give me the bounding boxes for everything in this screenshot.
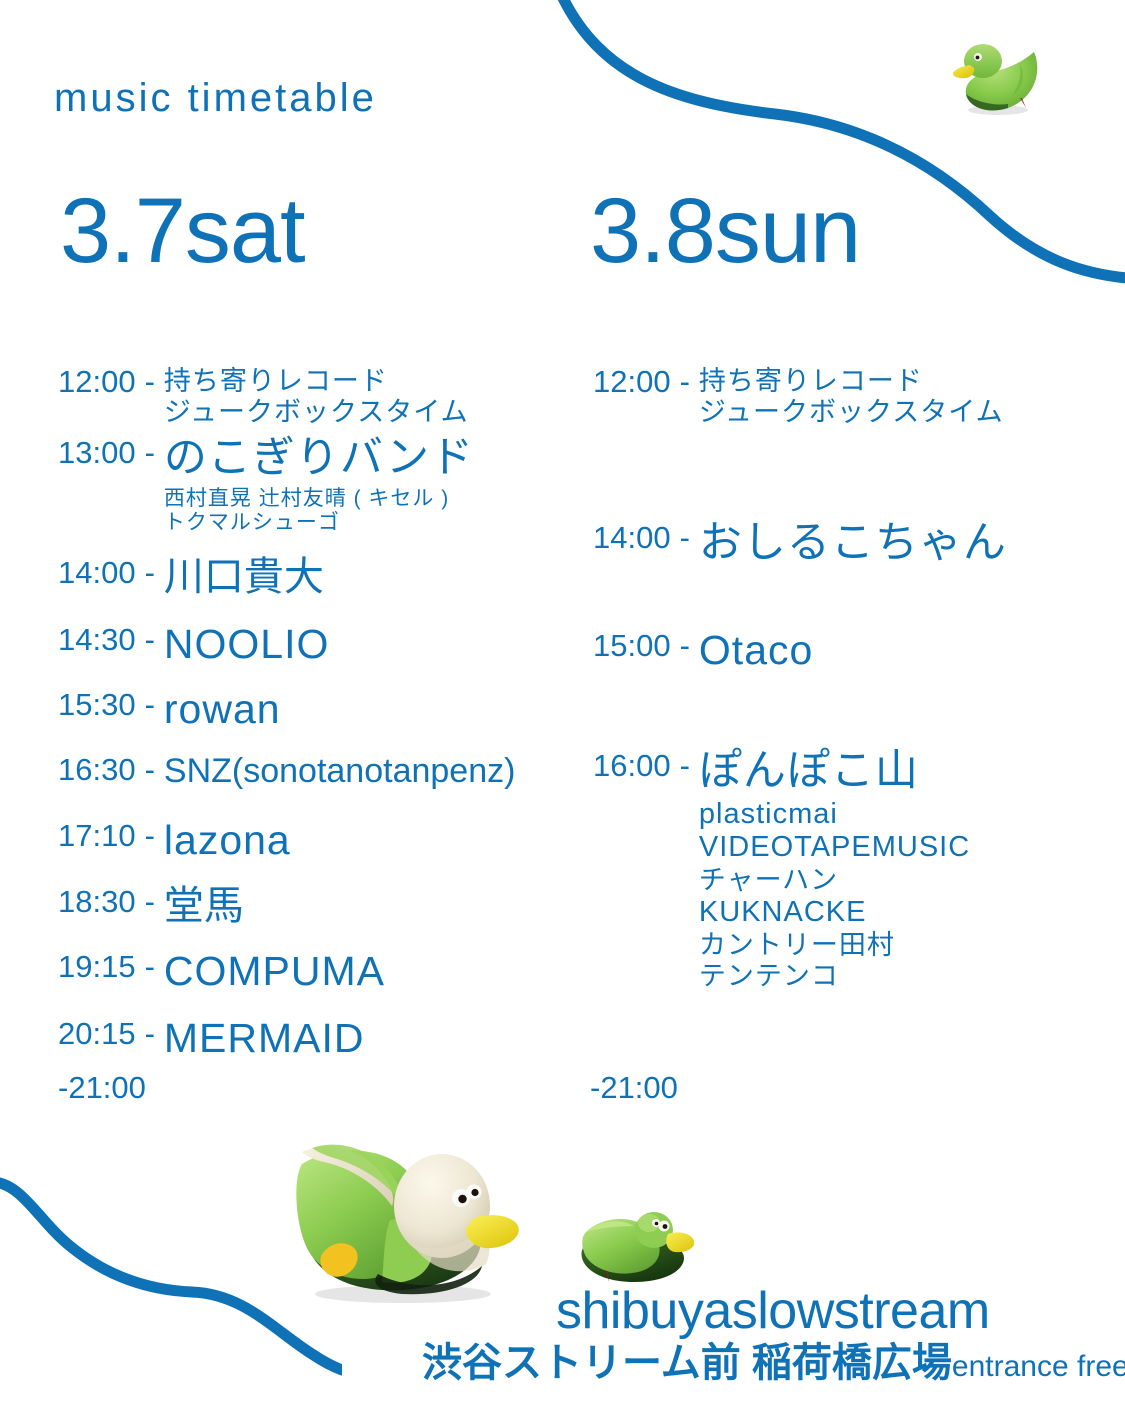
slot-dash: - xyxy=(136,886,164,917)
venue-line: 渋谷ストリーム前 稲荷橋広場 entrance free xyxy=(422,1343,1125,1383)
slot-acts: 持ち寄りレコード ジュークボックスタイム xyxy=(164,366,469,429)
act-headline: のこぎりバンド xyxy=(164,437,474,481)
act-name: 持ち寄りレコード xyxy=(164,366,469,397)
act-name: plasticmai xyxy=(699,798,970,832)
schedule-row: 14:00 - 川口貴大 xyxy=(58,557,324,598)
slot-time: 16:30 xyxy=(58,754,136,785)
slot-time: 15:00 xyxy=(593,630,671,661)
schedule-row: 17:10 - lazona xyxy=(58,820,291,862)
act-headline: NOOLIO xyxy=(164,624,329,666)
slot-dash: - xyxy=(136,366,164,397)
slot-acts: ぽんぽこ山 plasticmai VIDEOTAPEMUSIC チャーハン KU… xyxy=(699,750,970,993)
slot-acts: lazona xyxy=(164,820,291,862)
slot-time: 17:10 xyxy=(58,820,136,851)
slot-time: 14:00 xyxy=(593,522,671,553)
schedule-row: 16:00 - ぽんぽこ山 plasticmai VIDEOTAPEMUSIC … xyxy=(593,750,970,993)
slot-acts: NOOLIO xyxy=(164,624,329,666)
slot-acts: rowan xyxy=(164,689,281,731)
slot-dash: - xyxy=(136,1018,164,1049)
slot-dash: - xyxy=(136,624,164,655)
slot-acts: SNZ(sonotanotanpenz) xyxy=(164,754,516,789)
slot-time: 19:15 xyxy=(58,951,136,982)
slot-dash: - xyxy=(136,437,164,468)
act-headline: rowan xyxy=(164,689,281,731)
act-name: ジュークボックスタイム xyxy=(699,397,1004,428)
day1-schedule: 12:00 - 持ち寄りレコード ジュークボックスタイム 13:00 - のこぎ… xyxy=(0,0,540,1407)
act-headline: ぽんぽこ山 xyxy=(699,750,970,794)
slot-dash: - xyxy=(671,522,699,553)
act-name: KUKNACKE xyxy=(699,896,970,930)
schedule-row: 16:30 - SNZ(sonotanotanpenz) xyxy=(58,754,515,789)
day1-end-time: -21:00 xyxy=(58,1072,146,1103)
schedule-row: 13:00 - のこぎりバンド 西村直晃 辻村友晴 ( キセル ) トクマルシュ… xyxy=(58,437,474,536)
slot-acts: のこぎりバンド 西村直晃 辻村友晴 ( キセル ) トクマルシューゴ xyxy=(164,437,474,536)
schedule-row: 12:00 - 持ち寄りレコード ジュークボックスタイム xyxy=(593,366,1004,429)
slot-acts: おしるこちゃん xyxy=(699,522,1007,566)
act-headline: 川口貴大 xyxy=(164,557,324,598)
slot-time: 18:30 xyxy=(58,886,136,917)
schedule-row: 12:00 - 持ち寄りレコード ジュークボックスタイム xyxy=(58,366,469,429)
act-headline: 堂馬 xyxy=(164,886,244,927)
schedule-row: 14:00 - おしるこちゃん xyxy=(593,522,1007,566)
slot-acts: 堂馬 xyxy=(164,886,244,927)
slot-dash: - xyxy=(136,820,164,851)
schedule-row: 15:00 - Otaco xyxy=(593,630,813,672)
act-name: VIDEOTAPEMUSIC xyxy=(699,831,970,865)
brand-name: shibuyaslowstream xyxy=(556,1285,990,1337)
act-name: 西村直晃 辻村友晴 ( キセル ) xyxy=(164,487,474,511)
act-name: ジュークボックスタイム xyxy=(164,397,469,428)
slot-time: 14:00 xyxy=(58,557,136,588)
slot-dash: - xyxy=(136,557,164,588)
schedule-row: 15:30 - rowan xyxy=(58,689,281,731)
slot-dash: - xyxy=(136,689,164,720)
act-name: トクマルシューゴ xyxy=(164,511,474,535)
slot-time: 15:30 xyxy=(58,689,136,720)
day2-schedule: 12:00 - 持ち寄りレコード ジュークボックスタイム 14:00 - おしる… xyxy=(530,0,1070,1407)
slot-time: 16:00 xyxy=(593,750,671,781)
act-name: チャーハン xyxy=(699,865,970,896)
act-headline: Otaco xyxy=(699,630,813,672)
slot-acts: COMPUMA xyxy=(164,951,385,993)
slot-dash: - xyxy=(671,630,699,661)
slot-time: 12:00 xyxy=(58,366,136,397)
schedule-row: 18:30 - 堂馬 xyxy=(58,886,244,927)
act-name: テンテンコ xyxy=(699,961,970,992)
slot-time: 12:00 xyxy=(593,366,671,397)
act-headline: MERMAID xyxy=(164,1018,365,1060)
schedule-row: 14:30 - NOOLIO xyxy=(58,624,329,666)
entrance-note: entrance free xyxy=(952,1352,1125,1382)
act-name: カントリー田村 xyxy=(699,930,970,961)
slot-time: 20:15 xyxy=(58,1018,136,1049)
act-headline: lazona xyxy=(164,820,291,862)
slot-acts: 川口貴大 xyxy=(164,557,324,598)
slot-dash: - xyxy=(671,366,699,397)
act-headline: おしるこちゃん xyxy=(699,522,1007,566)
schedule-row: 19:15 - COMPUMA xyxy=(58,951,385,993)
slot-time: 14:30 xyxy=(58,624,136,655)
slot-time: 13:00 xyxy=(58,437,136,468)
venue-name: 渋谷ストリーム前 稲荷橋広場 xyxy=(422,1343,952,1383)
poster-canvas: music timetable 3.7sat 3.8sun 12:00 - 持ち… xyxy=(0,0,1125,1407)
slot-dash: - xyxy=(136,754,164,785)
day2-end-time: -21:00 xyxy=(590,1072,678,1103)
act-name: 持ち寄りレコード xyxy=(699,366,1004,397)
slot-acts: 持ち寄りレコード ジュークボックスタイム xyxy=(699,366,1004,429)
act-headline: SNZ(sonotanotanpenz) xyxy=(164,754,516,789)
slot-acts: MERMAID xyxy=(164,1018,365,1060)
schedule-row: 20:15 - MERMAID xyxy=(58,1018,365,1060)
slot-acts: Otaco xyxy=(699,630,813,672)
act-headline: COMPUMA xyxy=(164,951,385,993)
slot-dash: - xyxy=(671,750,699,781)
slot-dash: - xyxy=(136,951,164,982)
